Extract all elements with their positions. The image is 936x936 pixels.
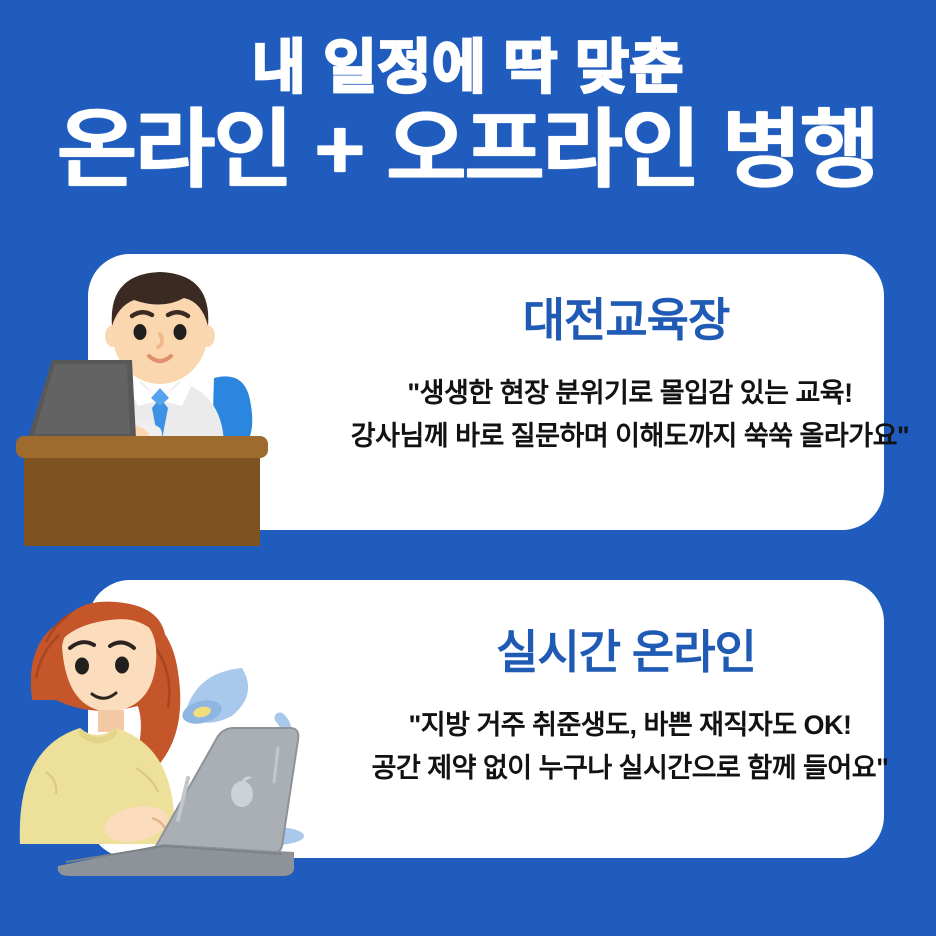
card-body-line-1: "생생한 현장 분위기로 몰입감 있는 교육! — [330, 372, 930, 415]
header-subtitle: 내 일정에 딱 맞춘 — [0, 38, 936, 99]
card-title-online: 실시간 온라인 — [368, 616, 884, 682]
card-body-line-2: 강사님께 바로 질문하며 이해도까지 쑥쑥 올라가요" — [330, 415, 930, 458]
poster-header: 내 일정에 딱 맞춘 온라인 + 오프라인 병행 — [0, 0, 936, 232]
card-online[interactable]: 실시간 온라인 "지방 거주 취준생도, 바쁜 재직자도 OK! 공간 제약 없… — [88, 580, 884, 858]
card-offline[interactable]: 대전교육장 "생생한 현장 분위기로 몰입감 있는 교육! 강사님께 바로 질문… — [88, 254, 884, 530]
card-body-offline: "생생한 현장 분위기로 몰입감 있는 교육! 강사님께 바로 질문하며 이해도… — [330, 372, 930, 457]
card-body-line-2: 공간 제약 없이 누구나 실시간으로 함께 들어요" — [330, 747, 930, 790]
poster-root: 내 일정에 딱 맞춘 온라인 + 오프라인 병행 대전교육장 "생생한 현장 분… — [0, 0, 936, 936]
page-title: 온라인 + 오프라인 병행 — [0, 104, 936, 197]
card-body-line-1: "지방 거주 취준생도, 바쁜 재직자도 OK! — [330, 704, 930, 747]
card-title-offline: 대전교육장 — [368, 284, 884, 350]
card-body-online: "지방 거주 취준생도, 바쁜 재직자도 OK! 공간 제약 없이 누구나 실시… — [330, 704, 930, 789]
